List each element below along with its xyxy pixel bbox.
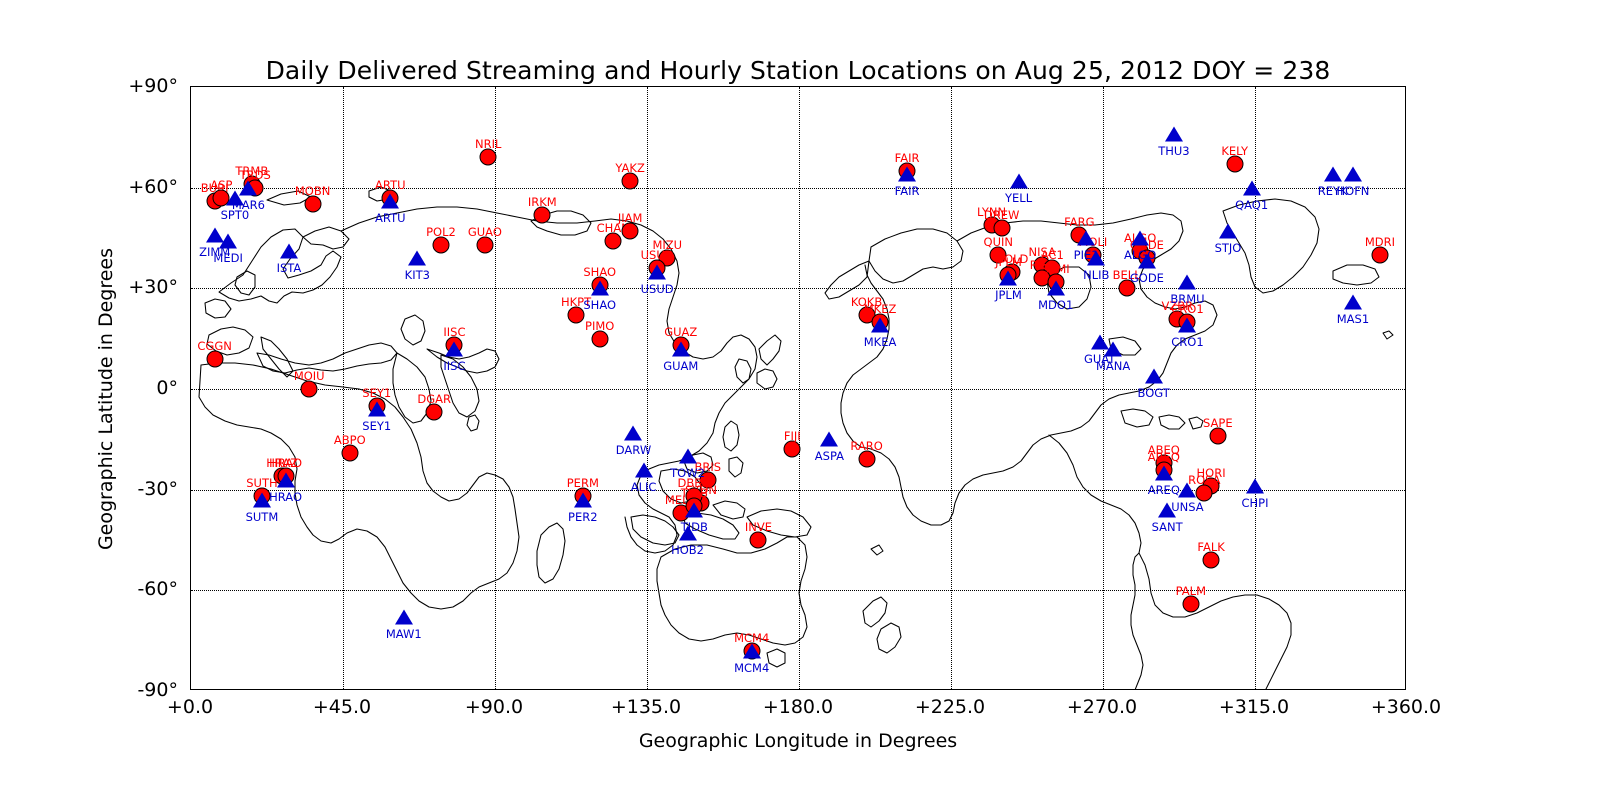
station-label: SUTH xyxy=(246,476,277,490)
x-tick-label: +90.0 xyxy=(465,696,523,718)
station-marker[interactable] xyxy=(301,381,318,398)
station-marker[interactable] xyxy=(1178,482,1196,497)
station-label: FAIR xyxy=(895,184,920,198)
station-label: BOGT xyxy=(1138,386,1170,400)
station-label: ASPA xyxy=(815,449,844,463)
station-marker[interactable] xyxy=(253,492,271,507)
red-circle-icon xyxy=(784,441,801,458)
x-tick-label: +270.0 xyxy=(1067,696,1137,718)
station-label: NLIB xyxy=(1083,268,1109,282)
red-circle-icon xyxy=(432,236,449,253)
station-label: MOBN xyxy=(295,184,330,198)
gridline-vertical xyxy=(495,87,496,689)
station-label: AREQ xyxy=(1148,483,1180,497)
station-marker[interactable] xyxy=(1178,318,1196,333)
blue-triangle-icon xyxy=(672,341,690,356)
blue-triangle-icon xyxy=(1243,180,1261,195)
station-label: MAS1 xyxy=(1337,312,1369,326)
y-tick-label: +90° xyxy=(128,75,178,97)
blue-triangle-icon xyxy=(1165,126,1183,141)
station-marker[interactable] xyxy=(750,532,767,549)
station-marker[interactable] xyxy=(685,502,703,517)
red-circle-icon xyxy=(534,206,551,223)
red-circle-icon xyxy=(480,149,497,166)
station-marker[interactable] xyxy=(1344,167,1362,182)
y-tick-label: +30° xyxy=(128,276,178,298)
station-label: HOFN xyxy=(1336,184,1369,198)
station-label: PERM xyxy=(567,476,599,490)
blue-triangle-icon xyxy=(1344,294,1362,309)
station-label: IISC xyxy=(443,325,465,339)
x-tick-label: +315.0 xyxy=(1219,696,1289,718)
station-label: USUD xyxy=(641,248,674,262)
station-label: TIDB xyxy=(681,486,708,500)
station-label: FALK xyxy=(1197,540,1224,554)
station-marker[interactable] xyxy=(672,341,690,356)
station-label: IRKM xyxy=(528,195,557,209)
station-marker[interactable] xyxy=(1371,246,1388,263)
y-tick-label: 0° xyxy=(156,377,178,399)
blue-triangle-icon xyxy=(1138,254,1156,269)
station-marker[interactable] xyxy=(408,251,426,266)
station-marker[interactable] xyxy=(1324,167,1342,182)
station-marker[interactable] xyxy=(1145,368,1163,383)
station-marker[interactable] xyxy=(622,172,639,189)
gridline-vertical xyxy=(1103,87,1104,689)
blue-triangle-icon xyxy=(635,462,653,477)
red-circle-icon xyxy=(1182,595,1199,612)
y-tick-label: -90° xyxy=(137,679,178,701)
blue-triangle-icon xyxy=(253,492,271,507)
blue-triangle-icon xyxy=(1131,231,1149,246)
station-label: CHPI xyxy=(1241,496,1268,510)
station-marker[interactable] xyxy=(219,234,237,249)
station-label: ARTU xyxy=(375,178,405,192)
station-marker[interactable] xyxy=(534,206,551,223)
red-circle-icon xyxy=(476,236,493,253)
station-label: QAQ1 xyxy=(1235,198,1268,212)
station-label: FARG xyxy=(1064,215,1094,229)
blue-triangle-icon xyxy=(1145,368,1163,383)
station-label: MDRI xyxy=(1365,235,1395,249)
station-label: RARO xyxy=(850,439,882,453)
station-marker[interactable] xyxy=(1182,595,1199,612)
blue-triangle-icon xyxy=(445,341,463,356)
station-marker[interactable] xyxy=(1077,231,1095,246)
blue-triangle-icon xyxy=(1219,224,1237,239)
station-marker[interactable] xyxy=(480,149,497,166)
blue-triangle-icon xyxy=(871,318,889,333)
blue-triangle-icon xyxy=(1324,167,1342,182)
station-marker[interactable] xyxy=(426,404,443,421)
station-label: FAIR xyxy=(895,151,920,165)
station-label: SANT xyxy=(1152,520,1183,534)
station-marker[interactable] xyxy=(784,441,801,458)
blue-triangle-icon xyxy=(1158,502,1176,517)
station-label: SUTM xyxy=(246,510,279,524)
gridline-vertical xyxy=(799,87,800,689)
blue-triangle-icon xyxy=(591,281,609,296)
station-label: YELL xyxy=(1005,191,1032,205)
gridline-vertical xyxy=(951,87,952,689)
blue-triangle-icon xyxy=(1155,465,1173,480)
red-circle-icon xyxy=(206,350,223,367)
red-circle-icon xyxy=(426,404,443,421)
blue-triangle-icon xyxy=(898,167,916,182)
figure-canvas: Daily Delivered Streaming and Hourly Sta… xyxy=(0,0,1600,800)
station-label: THU3 xyxy=(1158,144,1189,158)
station-marker[interactable] xyxy=(871,318,889,333)
x-tick-label: +360.0 xyxy=(1371,696,1441,718)
station-label: YAKZ xyxy=(615,161,644,175)
station-marker[interactable] xyxy=(622,223,639,240)
station-label: MDO1 xyxy=(1038,298,1073,312)
station-marker[interactable] xyxy=(568,307,585,324)
station-label: GODE xyxy=(1130,271,1164,285)
blue-triangle-icon xyxy=(381,194,399,209)
station-marker[interactable] xyxy=(635,462,653,477)
station-marker[interactable] xyxy=(898,167,916,182)
blue-triangle-icon xyxy=(1178,318,1196,333)
blue-triangle-icon xyxy=(743,643,761,658)
station-label: MEDI xyxy=(213,251,242,265)
station-label: GUAZ xyxy=(664,325,697,339)
x-tick-label: +45.0 xyxy=(313,696,371,718)
blue-triangle-icon xyxy=(679,526,697,541)
x-tick-label: +135.0 xyxy=(611,696,681,718)
station-label: MKEA xyxy=(864,335,897,349)
blue-triangle-icon xyxy=(1077,231,1095,246)
station-marker[interactable] xyxy=(1243,180,1261,195)
station-marker[interactable] xyxy=(679,449,697,464)
station-label: SHAO xyxy=(583,265,616,279)
blue-triangle-icon xyxy=(999,271,1017,286)
station-marker[interactable] xyxy=(1047,281,1065,296)
gridline-horizontal xyxy=(191,188,1405,189)
station-label: SHAO xyxy=(583,298,616,312)
station-label: MOIU xyxy=(294,369,325,383)
blue-triangle-icon xyxy=(239,180,257,195)
station-marker[interactable] xyxy=(341,444,358,461)
blue-triangle-icon xyxy=(219,234,237,249)
station-marker[interactable] xyxy=(1010,173,1028,188)
y-tick-label: +60° xyxy=(128,176,178,198)
blue-triangle-icon xyxy=(1178,482,1196,497)
red-circle-icon xyxy=(1209,427,1226,444)
station-label: SAPE xyxy=(1203,416,1233,430)
station-marker[interactable] xyxy=(395,610,413,625)
gridline-vertical xyxy=(647,87,648,689)
blue-triangle-icon xyxy=(648,264,666,279)
red-circle-icon xyxy=(605,233,622,250)
station-label: POL2 xyxy=(426,225,456,239)
station-marker[interactable] xyxy=(1165,126,1183,141)
blue-triangle-icon xyxy=(574,492,592,507)
station-marker[interactable] xyxy=(591,330,608,347)
station-marker[interactable] xyxy=(381,194,399,209)
blue-triangle-icon xyxy=(368,402,386,417)
blue-triangle-icon xyxy=(624,425,642,440)
station-marker[interactable] xyxy=(280,244,298,259)
station-marker[interactable] xyxy=(206,350,223,367)
map-plot-area[interactable]: BURJTRMBTRDSMOBNARTUNRILYAKZIRKMPOL2GUAO… xyxy=(190,86,1406,690)
station-marker[interactable] xyxy=(1158,502,1176,517)
y-tick-label: -30° xyxy=(137,478,178,500)
red-circle-icon xyxy=(591,330,608,347)
station-label: USUD xyxy=(641,282,674,296)
red-circle-icon xyxy=(568,307,585,324)
station-label: MANA xyxy=(1096,359,1130,373)
red-circle-icon xyxy=(301,381,318,398)
station-marker[interactable] xyxy=(743,643,761,658)
station-label: STJO xyxy=(1215,241,1242,255)
station-label: ISTA xyxy=(277,261,302,275)
station-label: ALIC xyxy=(631,480,657,494)
blue-triangle-icon xyxy=(1010,173,1028,188)
station-label: KIT3 xyxy=(405,268,430,282)
station-marker[interactable] xyxy=(1087,251,1105,266)
blue-triangle-icon xyxy=(395,610,413,625)
blue-triangle-icon xyxy=(1104,341,1122,356)
blue-triangle-icon xyxy=(685,502,703,517)
gridline-vertical xyxy=(1255,87,1256,689)
station-label: ABPO xyxy=(334,433,366,447)
station-marker[interactable] xyxy=(1344,294,1362,309)
station-label: SEY1 xyxy=(362,386,391,400)
station-marker[interactable] xyxy=(679,526,697,541)
station-label: DREW xyxy=(984,208,1019,222)
station-marker[interactable] xyxy=(239,180,257,195)
station-label: MKEZ xyxy=(864,302,897,316)
blue-triangle-icon xyxy=(1246,479,1264,494)
station-marker[interactable] xyxy=(304,196,321,213)
station-label: PALM xyxy=(1176,584,1206,598)
station-label: INVE xyxy=(745,520,772,534)
station-label: GUAO xyxy=(468,225,502,239)
station-label: BRMU xyxy=(1170,292,1204,306)
station-label: FIJI xyxy=(784,429,801,443)
station-label: SEY1 xyxy=(362,419,391,433)
gridline-horizontal xyxy=(191,590,1405,591)
gridline-vertical xyxy=(343,87,344,689)
station-label: TOW2 xyxy=(670,466,705,480)
blue-triangle-icon xyxy=(277,472,295,487)
station-label: CRO1 xyxy=(1171,335,1203,349)
blue-triangle-icon xyxy=(280,244,298,259)
station-label: JIAM xyxy=(618,211,643,225)
blue-triangle-icon xyxy=(1178,274,1196,289)
station-marker[interactable] xyxy=(648,264,666,279)
station-label: ARTU xyxy=(375,211,405,225)
station-label: JPLM xyxy=(995,288,1022,302)
station-marker[interactable] xyxy=(1178,274,1196,289)
red-circle-icon xyxy=(1226,156,1243,173)
red-circle-icon xyxy=(304,196,321,213)
blue-triangle-icon xyxy=(1087,251,1105,266)
station-label: SEMI xyxy=(1042,262,1070,276)
station-label: MCM4 xyxy=(734,661,769,675)
station-marker[interactable] xyxy=(624,425,642,440)
red-circle-icon xyxy=(622,223,639,240)
station-label: GUAM xyxy=(663,359,698,373)
x-tick-label: +180.0 xyxy=(763,696,833,718)
station-label: JPLM xyxy=(995,255,1022,269)
red-circle-icon xyxy=(1203,552,1220,569)
gridline-horizontal xyxy=(191,288,1405,289)
station-label: IISC xyxy=(443,359,465,373)
station-label: KELY xyxy=(1221,144,1248,158)
station-label: DARW xyxy=(616,443,651,457)
station-marker[interactable] xyxy=(858,451,875,468)
station-label: CGGN xyxy=(197,339,231,353)
red-circle-icon xyxy=(1371,246,1388,263)
station-marker[interactable] xyxy=(1131,231,1149,246)
blue-triangle-icon xyxy=(820,432,838,447)
y-tick-label: -60° xyxy=(137,578,178,600)
station-marker[interactable] xyxy=(999,271,1017,286)
station-label: MAW1 xyxy=(386,627,422,641)
station-marker[interactable] xyxy=(1155,465,1173,480)
station-marker[interactable] xyxy=(1104,341,1122,356)
red-circle-icon xyxy=(341,444,358,461)
station-marker[interactable] xyxy=(476,236,493,253)
station-marker[interactable] xyxy=(605,233,622,250)
station-label: AREQ xyxy=(1148,450,1180,464)
station-label: HRAO xyxy=(269,490,302,504)
station-label: DGAR xyxy=(417,392,451,406)
station-marker[interactable] xyxy=(432,236,449,253)
station-marker[interactable] xyxy=(1246,479,1264,494)
station-marker[interactable] xyxy=(1209,427,1226,444)
station-marker[interactable] xyxy=(277,472,295,487)
blue-triangle-icon xyxy=(1344,167,1362,182)
x-tick-label: +225.0 xyxy=(915,696,985,718)
page-title: Daily Delivered Streaming and Hourly Sta… xyxy=(190,56,1406,85)
station-marker[interactable] xyxy=(591,281,609,296)
station-label: HRAO xyxy=(269,456,302,470)
gridline-horizontal xyxy=(191,490,1405,491)
station-marker[interactable] xyxy=(574,492,592,507)
y-axis-label: Geographic Latitude in Degrees xyxy=(95,97,117,701)
station-marker[interactable] xyxy=(1203,552,1220,569)
red-circle-icon xyxy=(622,172,639,189)
station-marker[interactable] xyxy=(368,402,386,417)
red-circle-icon xyxy=(750,532,767,549)
x-axis-label: Geographic Longitude in Degrees xyxy=(190,730,1406,752)
blue-triangle-icon xyxy=(1047,281,1065,296)
station-marker[interactable] xyxy=(445,341,463,356)
station-label: PER2 xyxy=(568,510,598,524)
red-circle-icon xyxy=(858,451,875,468)
station-marker[interactable] xyxy=(1219,224,1237,239)
station-marker[interactable] xyxy=(1138,254,1156,269)
station-marker[interactable] xyxy=(820,432,838,447)
station-label: HOB2 xyxy=(671,543,704,557)
station-label: PIMO xyxy=(585,319,614,333)
station-marker[interactable] xyxy=(1226,156,1243,173)
blue-triangle-icon xyxy=(408,251,426,266)
station-label: MAR6 xyxy=(232,198,265,212)
station-label: QUIN xyxy=(984,235,1013,249)
blue-triangle-icon xyxy=(679,449,697,464)
station-label: NRIL xyxy=(475,137,501,151)
